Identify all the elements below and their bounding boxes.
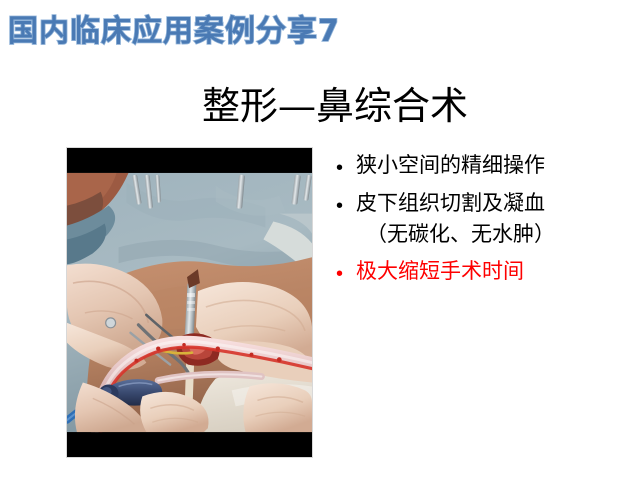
bullet-item-2: • 皮下组织切割及凝血 （无碳化、无水肿） [336,188,628,250]
bullet-item-3: • 极大缩短手术时间 [336,256,628,292]
letterbox-top [67,148,312,173]
banner-title: 国内临床应用案例分享7 [8,10,622,54]
bullet-list: • 狭小空间的精细操作 • 皮下组织切割及凝血 （无碳化、无水肿） • 极大缩短… [336,150,628,294]
bullet-text-1: 狭小空间的精细操作 [356,150,628,181]
bullet-text-3: 极大缩短手术时间 [356,256,628,287]
slide-heading: 整形—鼻综合术 [0,82,630,130]
bullet-text-1-line1: 狭小空间的精细操作 [356,153,545,177]
bullet-text-3-line1: 极大缩短手术时间 [356,259,524,283]
bullet-marker-icon: • [336,256,356,292]
bullet-text-2: 皮下组织切割及凝血 （无碳化、无水肿） [356,188,628,250]
bullet-item-1: • 狭小空间的精细操作 [336,150,628,186]
bullet-marker-icon: • [336,150,356,186]
bullet-marker-icon: • [336,188,356,224]
surgery-illustration [67,148,312,457]
bullet-text-2-line1: 皮下组织切割及凝血 [356,191,545,215]
bullet-text-2-line2: （无碳化、无水肿） [356,219,628,250]
surgical-procedure-photo [66,147,313,458]
letterbox-bottom [67,432,312,457]
slide-banner: 国内临床应用案例分享7 [8,10,622,58]
